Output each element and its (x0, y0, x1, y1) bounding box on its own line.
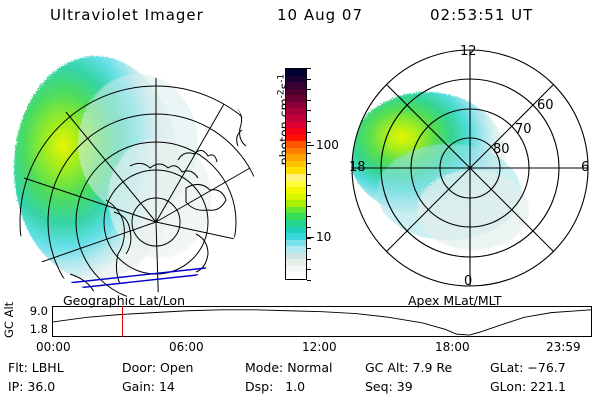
status-glat: GLat: −76.7 (490, 360, 566, 375)
colorbar-minor-tick (307, 248, 311, 249)
apex-polar-plot (345, 42, 595, 294)
colorbar[interactable]: photon cm-2s-1 10010 (266, 60, 346, 295)
colorbar-minor-tick (307, 153, 311, 154)
altitude-plot-box (52, 306, 592, 337)
altitude-polyline (53, 310, 591, 335)
geographic-panel[interactable] (10, 48, 260, 296)
geographic-plot (10, 48, 260, 296)
status-block: Flt: LBHL Door: Open Mode: Normal GC Alt… (0, 360, 600, 398)
time-tick-0600: 06:00 (169, 340, 204, 354)
colorbar-gradient (285, 68, 307, 280)
colorbar-minor-tick (307, 132, 311, 133)
mlt-label-0: 0 (464, 274, 472, 289)
colorbar-minor-tick (307, 163, 311, 164)
colorbar-minor-tick (307, 216, 311, 217)
status-gain: Gain: 14 (122, 379, 175, 394)
colorbar-minor-tick (307, 185, 311, 186)
altitude-ytick-labels: 9.0 1.8 (18, 305, 48, 339)
time-tick-1800: 18:00 (435, 340, 470, 354)
colorbar-minor-tick (307, 68, 311, 69)
status-row-2: IP: 36.0 Gain: 14 Dsp: 1.0 Seq: 39 GLon:… (0, 379, 600, 397)
time-axis: 00:00 06:00 12:00 18:00 23:59 (0, 340, 600, 356)
colorbar-minor-tick (307, 142, 311, 143)
colorbar-minor-tick (307, 79, 311, 80)
mlt-spokes (352, 50, 588, 286)
observation-date: 10 Aug 07 (277, 6, 363, 24)
mlat-label-70: 70 (515, 122, 532, 137)
status-flt: Flt: LBHL (8, 360, 64, 375)
colorbar-tick-label-100: 100 (316, 139, 339, 151)
status-dsp: Dsp: 1.0 (245, 379, 305, 394)
status-ip: IP: 36.0 (8, 379, 55, 394)
aurora-oval (349, 92, 529, 250)
colorbar-major-tick-100 (307, 145, 314, 146)
mlt-label-6: 6 (581, 160, 589, 175)
time-tick-2359: 23:59 (546, 340, 581, 354)
altitude-axis-label: GC Alt (2, 305, 16, 339)
status-mode: Mode: Normal (245, 360, 333, 375)
colorbar-minor-tick (307, 280, 311, 281)
mlat-label-60: 60 (537, 98, 554, 113)
colorbar-minor-tick (307, 174, 311, 175)
colorbar-tick-label-10: 10 (316, 231, 331, 243)
observation-time: 02:53:51 UT (430, 6, 533, 24)
colorbar-minor-tick (307, 110, 311, 111)
colorbar-ticks: 10010 (307, 68, 341, 280)
status-seq: Seq: 39 (365, 379, 413, 394)
time-tick-0000: 00:00 (36, 340, 71, 354)
time-tick-1200: 12:00 (302, 340, 337, 354)
header-bar: Ultraviolet Imager 10 Aug 07 02:53:51 UT (0, 6, 600, 30)
altitude-curve (53, 307, 591, 336)
colorbar-minor-tick (307, 206, 311, 207)
colorbar-minor-tick (307, 100, 311, 101)
mlt-label-12: 12 (460, 44, 477, 59)
colorbar-minor-tick (307, 195, 311, 196)
colorbar-minor-tick (307, 227, 311, 228)
current-time-marker (122, 306, 123, 337)
colorbar-minor-tick (307, 259, 311, 260)
orbit-altitude-strip[interactable]: GC Alt 9.0 1.8 (0, 305, 600, 339)
colorbar-minor-tick (307, 121, 311, 122)
colorbar-band-31 (286, 272, 306, 279)
colorbar-major-tick-10 (307, 237, 314, 238)
colorbar-minor-tick (307, 238, 311, 239)
colorbar-minor-tick (307, 269, 311, 270)
status-glon: GLon: 221.1 (490, 379, 566, 394)
status-row-1: Flt: LBHL Door: Open Mode: Normal GC Alt… (0, 360, 600, 378)
status-gcalt: GC Alt: 7.9 Re (365, 360, 452, 375)
colorbar-minor-tick (307, 89, 311, 90)
apex-mlat-mlt-panel[interactable]: 12 6 0 18 60 70 80 (345, 42, 595, 294)
mlt-label-18: 18 (349, 160, 366, 175)
page-title: Ultraviolet Imager (50, 6, 204, 24)
status-door: Door: Open (122, 360, 193, 375)
aurora-emission (14, 56, 212, 280)
mlat-label-80: 80 (493, 142, 510, 157)
